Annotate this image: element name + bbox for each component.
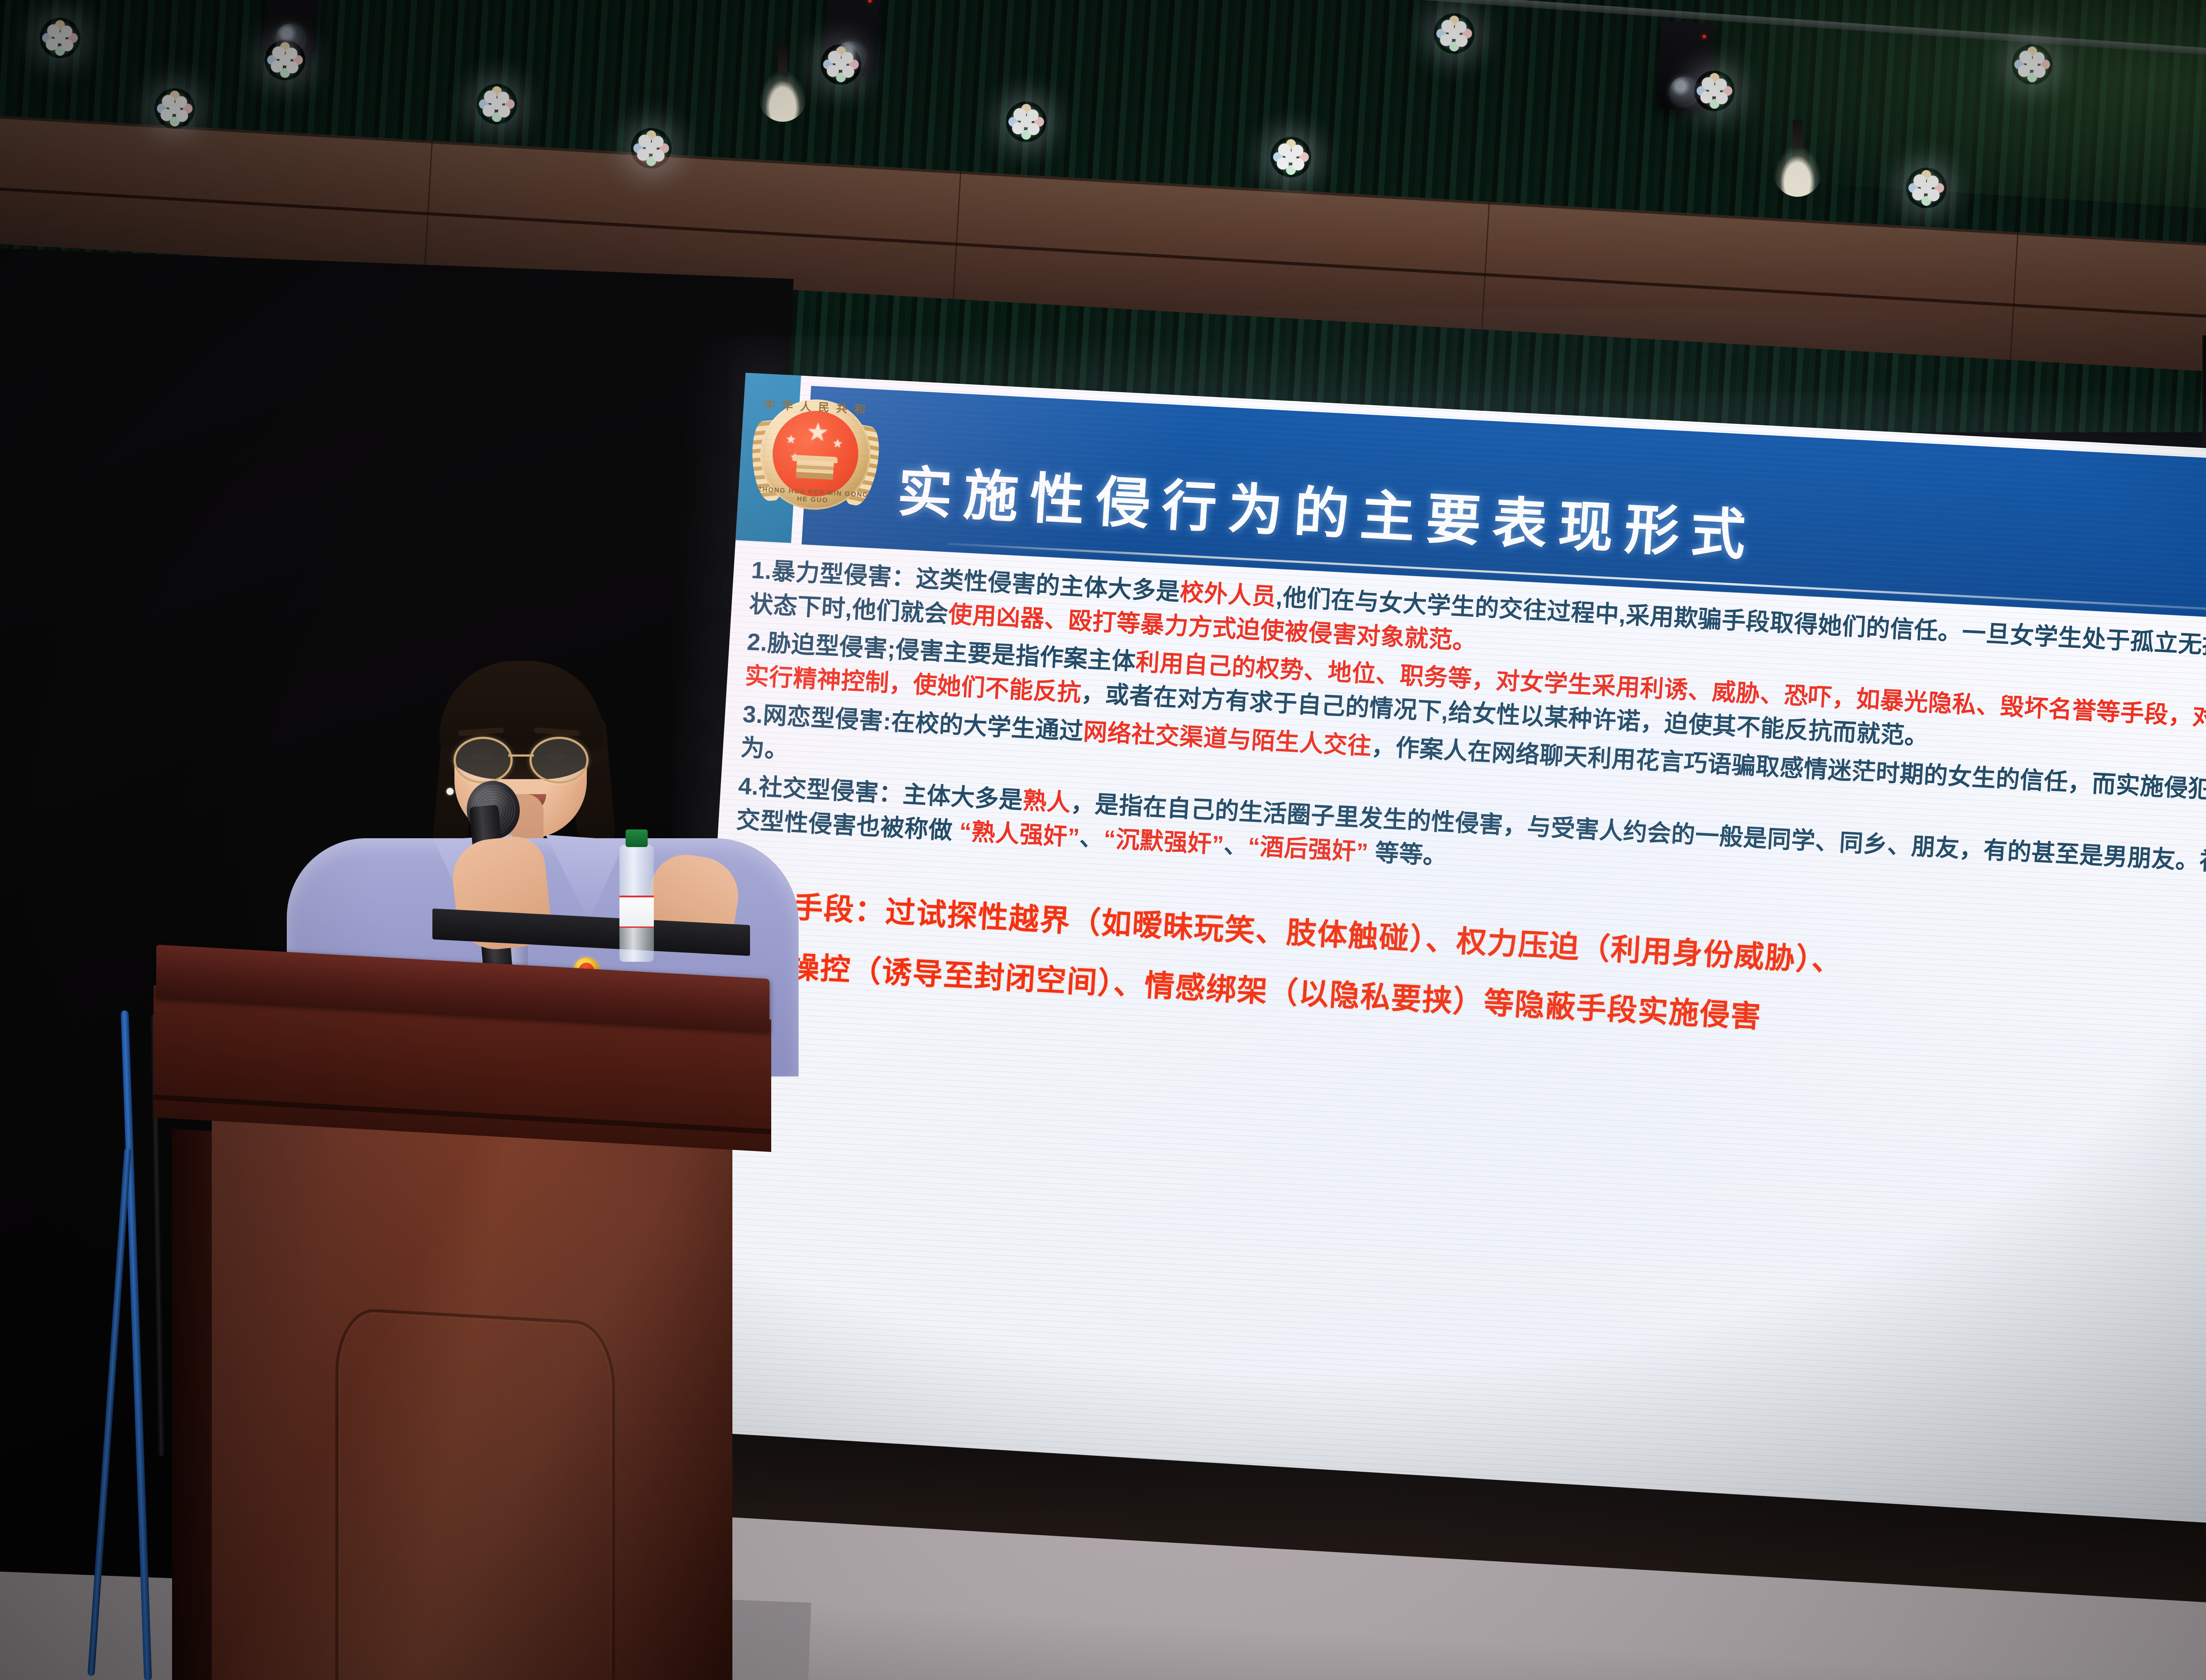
par-light (2012, 44, 2052, 85)
highlighted-text: 校外人员 (1179, 579, 1277, 610)
par-light (476, 84, 517, 124)
highlighted-text: “沉默强奸” (1103, 825, 1225, 858)
par-light (1006, 101, 1047, 142)
point-index: 1. (750, 557, 773, 584)
par-light (154, 88, 195, 129)
presentation-slide: 中华人民共和国 ★ ★ ★ ★ ★ ZHONG HUA REN MIN GONG… (677, 373, 2206, 1588)
par-light (821, 44, 861, 85)
body-text: 、 (1079, 824, 1104, 852)
par-light (40, 18, 80, 58)
highlighted-text: 网络社交渠道与陌生人交往 (1083, 718, 1373, 760)
highlighted-text: “熟人强奸” (959, 818, 1080, 851)
pendant-downlight (759, 71, 807, 122)
earring (446, 788, 454, 795)
projection-screen: 中华人民共和国 ★ ★ ★ ★ ★ ZHONG HUA REN MIN GONG… (677, 373, 2206, 1588)
body-text: 侵害主要是指作案主体 (895, 637, 1137, 675)
bottle-cap (626, 829, 648, 847)
slide-body: 1.暴力型侵害：这类性侵害的主体大多是校外人员,他们在与女大学生的交往过程中,采… (726, 553, 2206, 1064)
procuratorate-emblem-icon: 中华人民共和国 ★ ★ ★ ★ ★ ZHONG HUA REN MIN GONG… (754, 388, 877, 520)
highlighted-text: “酒后强奸” (1247, 833, 1369, 866)
body-text: 这类性侵害的主体大多是 (915, 566, 1181, 606)
body-text: 等等。 (1367, 839, 1448, 870)
point-label: 网恋型侵害: (762, 702, 892, 735)
point-label: 胁迫型侵害; (766, 630, 896, 663)
par-light (1694, 71, 1735, 111)
water-bottle (618, 829, 655, 962)
point-label: 暴力型侵害： (771, 558, 916, 592)
pendant-downlight (1774, 146, 1821, 197)
body-text: 、 (1223, 832, 1249, 859)
auditorium-scene: 中华人民共和国 ★ ★ ★ ★ ★ ZHONG HUA REN MIN GONG… (0, 0, 2206, 1680)
par-light (1906, 168, 1947, 208)
par-light (1434, 13, 1474, 54)
podium-inset-panel (335, 1307, 615, 1680)
wooden-podium (146, 962, 772, 1680)
body-text: 主体大多是 (902, 781, 1024, 814)
point-label: 社交型侵害： (758, 774, 904, 808)
par-light (631, 128, 672, 169)
par-light (265, 40, 305, 80)
par-light (1271, 137, 1311, 177)
body-text: 在校的大学生通过 (890, 709, 1084, 745)
glasses-icon (451, 737, 591, 779)
highlighted-text: 熟人 (1022, 787, 1072, 817)
